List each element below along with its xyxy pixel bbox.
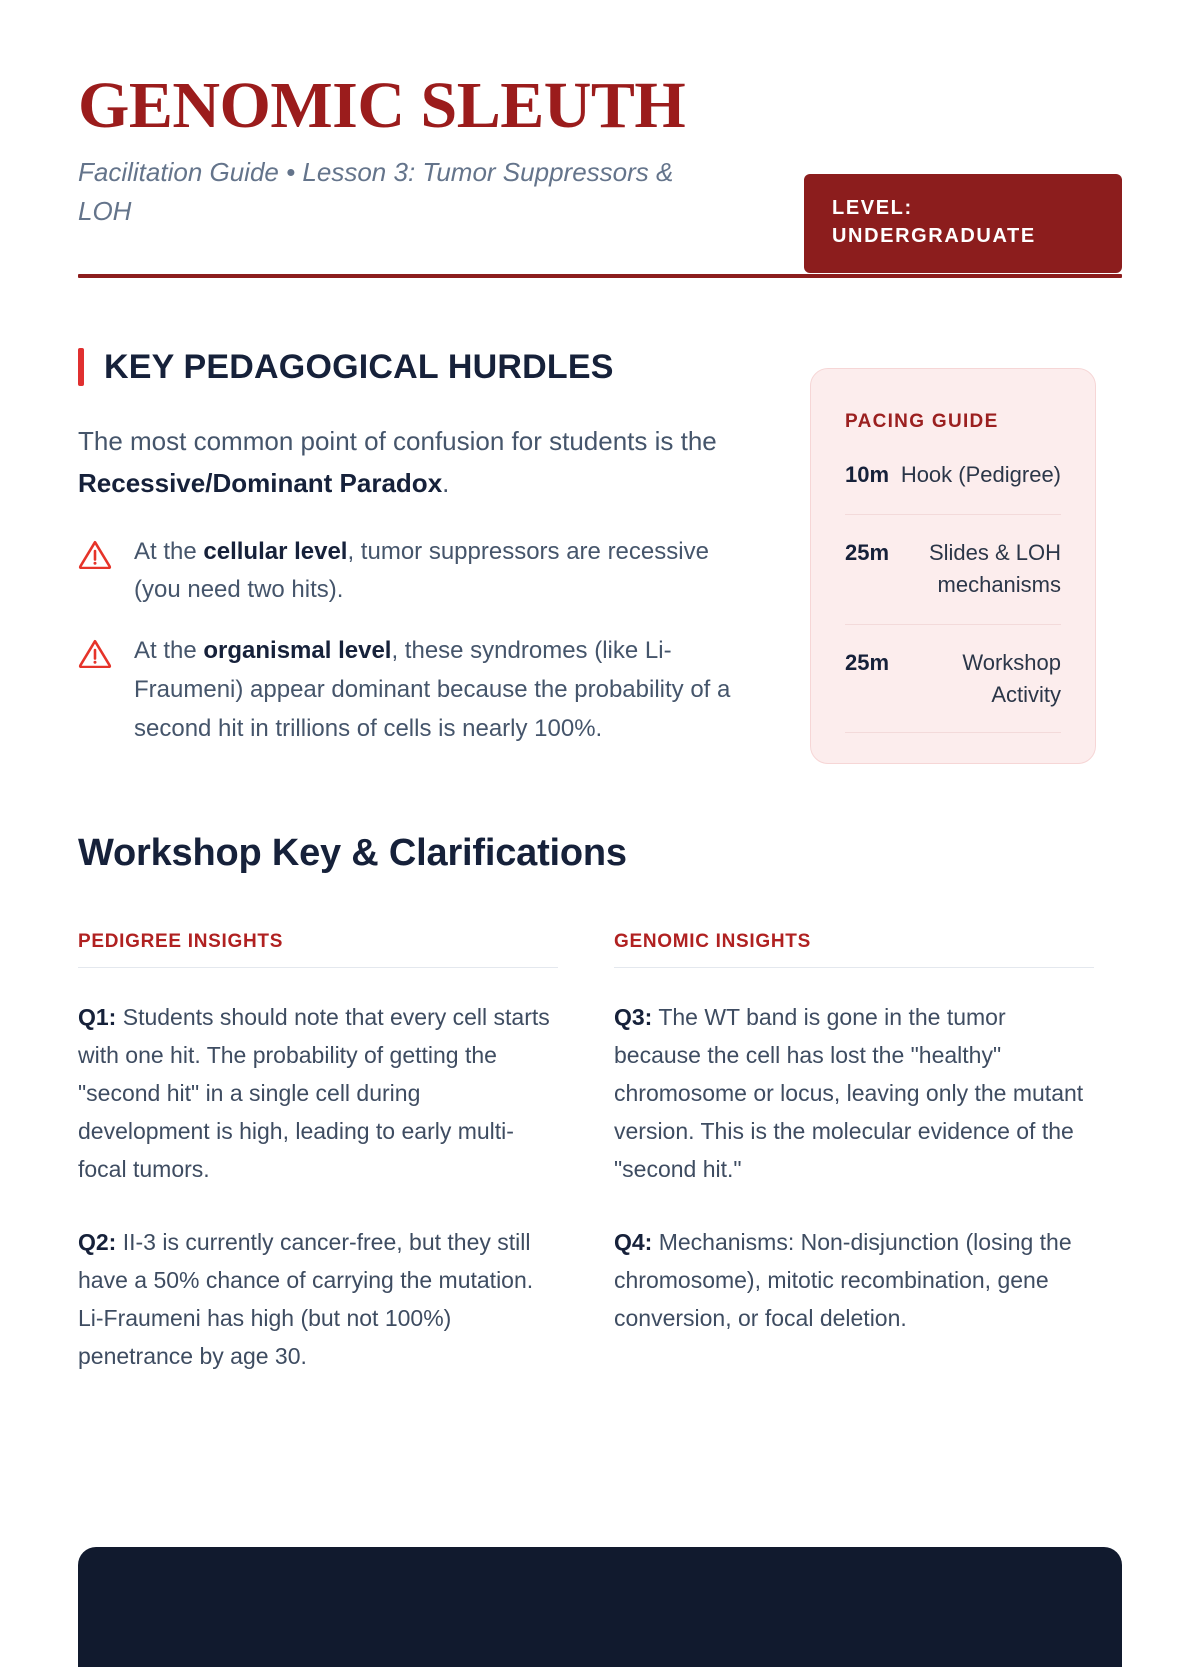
qa-label: Q2: — [78, 1229, 116, 1255]
hurdle-item-text: At the cellular level, tumor suppressors… — [134, 533, 754, 611]
level-badge: LEVEL: UNDERGRADUATE — [804, 174, 1122, 273]
qa-text: Students should note that every cell sta… — [78, 1004, 550, 1183]
page-title: GENOMIC SLEUTH — [78, 72, 1122, 139]
hurdles-heading: KEY PEDAGOGICAL HURDLES — [104, 348, 614, 386]
lede-text-after: . — [442, 468, 449, 498]
qa-text: Mechanisms: Non-disjunction (losing the … — [614, 1229, 1072, 1331]
workshop-heading: Workshop Key & Clarifications — [78, 833, 1122, 875]
lede-bold-term: Recessive/Dominant Paradox — [78, 468, 442, 498]
qa-label: Q1: — [78, 1004, 116, 1030]
pacing-label: Workshop Activity — [962, 650, 1061, 708]
pacing-row: 10mHook (Pedigree) — [845, 459, 1061, 515]
qa-text: The WT band is gone in the tumor because… — [614, 1004, 1083, 1183]
hurdle-item-text: At the organismal level, these syndromes… — [134, 632, 754, 749]
qa-label: Q4: — [614, 1229, 652, 1255]
qa-text: II-3 is currently cancer-free, but they … — [78, 1229, 533, 1370]
pacing-duration: 25m — [845, 647, 889, 680]
page-header: GENOMIC SLEUTH Facilitation Guide • Less… — [78, 0, 1122, 278]
hurdle-bold-term: cellular level — [203, 538, 347, 565]
facilitation-guide-page: GENOMIC SLEUTH Facilitation Guide • Less… — [0, 0, 1200, 1600]
lede-text-before: The most common point of confusion for s… — [78, 426, 717, 456]
pacing-line: 25mWorkshop Activity — [845, 647, 1061, 712]
hurdle-item: At the organismal level, these syndromes… — [78, 632, 768, 749]
qa-entry: Q2: II-3 is currently cancer-free, but t… — [78, 1223, 558, 1376]
hurdles-and-pacing-area: KEY PEDAGOGICAL HURDLES The most common … — [78, 348, 1122, 771]
insight-columns: PEDIGREE INSIGHTS Q1: Students should no… — [78, 931, 1122, 1376]
heading-accent-bar — [78, 348, 84, 386]
footer-panel — [78, 1547, 1122, 1667]
warning-triangle-icon — [78, 632, 112, 668]
workshop-key-section: Workshop Key & Clarifications PEDIGREE I… — [78, 833, 1122, 1375]
qa-entry: Q3: The WT band is gone in the tumor bec… — [614, 998, 1094, 1189]
warning-triangle-icon — [78, 533, 112, 569]
pacing-line: 10mHook (Pedigree) — [845, 459, 1061, 492]
hurdle-text-before: At the — [134, 538, 203, 565]
hurdle-text-before: At the — [134, 637, 203, 664]
page-subtitle: Facilitation Guide • Lesson 3: Tumor Sup… — [78, 153, 678, 230]
qa-entry: Q1: Students should note that every cell… — [78, 998, 558, 1189]
pacing-label: Hook (Pedigree) — [901, 462, 1061, 487]
pacing-label: Slides & LOH mechanisms — [929, 540, 1061, 598]
hurdles-lede: The most common point of confusion for s… — [78, 420, 738, 504]
hurdles-section: KEY PEDAGOGICAL HURDLES The most common … — [78, 348, 768, 771]
hurdles-heading-row: KEY PEDAGOGICAL HURDLES — [78, 348, 768, 386]
hurdle-bold-term: organismal level — [203, 637, 391, 664]
column-title: GENOMIC INSIGHTS — [614, 931, 1094, 953]
qa-entry: Q4: Mechanisms: Non-disjunction (losing … — [614, 1223, 1094, 1338]
column-divider — [78, 967, 558, 968]
pacing-duration: 10m — [845, 459, 889, 492]
pacing-duration: 25m — [845, 537, 889, 570]
pedigree-insights-column: PEDIGREE INSIGHTS Q1: Students should no… — [78, 931, 558, 1376]
pacing-row: 25mWorkshop Activity — [845, 647, 1061, 733]
column-title: PEDIGREE INSIGHTS — [78, 931, 558, 953]
header-divider — [78, 274, 1122, 278]
column-divider — [614, 967, 1094, 968]
pacing-row: 25mSlides & LOH mechanisms — [845, 537, 1061, 625]
hurdle-item: At the cellular level, tumor suppressors… — [78, 533, 768, 611]
pacing-line: 25mSlides & LOH mechanisms — [845, 537, 1061, 602]
pacing-guide-card: PACING GUIDE 10mHook (Pedigree) 25mSlide… — [810, 368, 1096, 764]
pacing-guide-title: PACING GUIDE — [845, 411, 1061, 433]
qa-label: Q3: — [614, 1004, 652, 1030]
genomic-insights-column: GENOMIC INSIGHTS Q3: The WT band is gone… — [614, 931, 1094, 1376]
